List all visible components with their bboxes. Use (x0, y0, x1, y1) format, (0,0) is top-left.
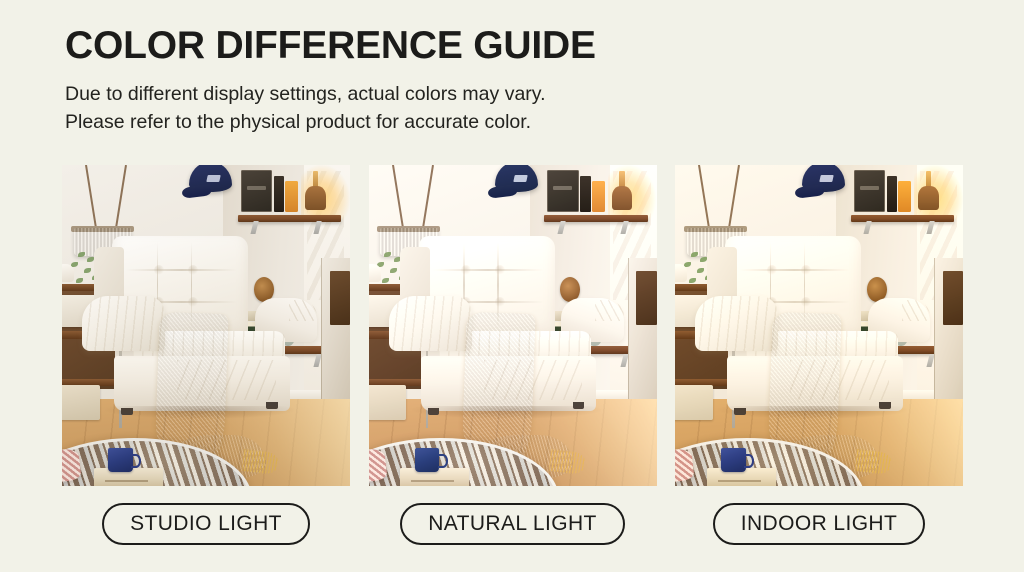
room-scene (675, 165, 963, 486)
candle (285, 181, 298, 211)
shelf-book-dark (274, 176, 284, 211)
table-lamp-icon (305, 186, 325, 210)
label-cell-indoor: INDOOR LIGHT (675, 503, 963, 545)
product-image-indoor[interactable] (675, 165, 963, 486)
room-scene (369, 165, 657, 486)
product-image-natural[interactable] (369, 165, 657, 486)
lighting-labels-row: STUDIO LIGHT NATURAL LIGHT INDOOR LIGHT (62, 503, 963, 545)
table-lamp-icon (918, 186, 938, 210)
table-lamp-icon (612, 186, 632, 210)
picture-frame (241, 170, 273, 212)
subtitle-line-2: Please refer to the physical product for… (65, 108, 596, 136)
room-scene (62, 165, 350, 486)
label-cell-studio: STUDIO LIGHT (62, 503, 350, 545)
page-title: COLOR DIFFERENCE GUIDE (65, 24, 596, 69)
label-cell-natural: NATURAL LIGHT (369, 503, 657, 545)
header: COLOR DIFFERENCE GUIDE Due to different … (65, 24, 596, 136)
subtitle-line-1: Due to different display settings, actua… (65, 80, 596, 108)
product-image-gallery (62, 165, 963, 486)
right-cabinet-shelf (330, 271, 350, 326)
coffee-mug (108, 448, 132, 472)
coffee-mug (721, 448, 745, 472)
label-natural-light[interactable]: NATURAL LIGHT (400, 503, 625, 545)
label-studio-light[interactable]: STUDIO LIGHT (102, 503, 310, 545)
cap-logo (207, 175, 222, 182)
coffee-mug (415, 448, 439, 472)
product-image-studio[interactable] (62, 165, 350, 486)
subtitle: Due to different display settings, actua… (65, 80, 596, 137)
label-indoor-light[interactable]: INDOOR LIGHT (713, 503, 925, 545)
chair-arm-left (82, 296, 165, 351)
